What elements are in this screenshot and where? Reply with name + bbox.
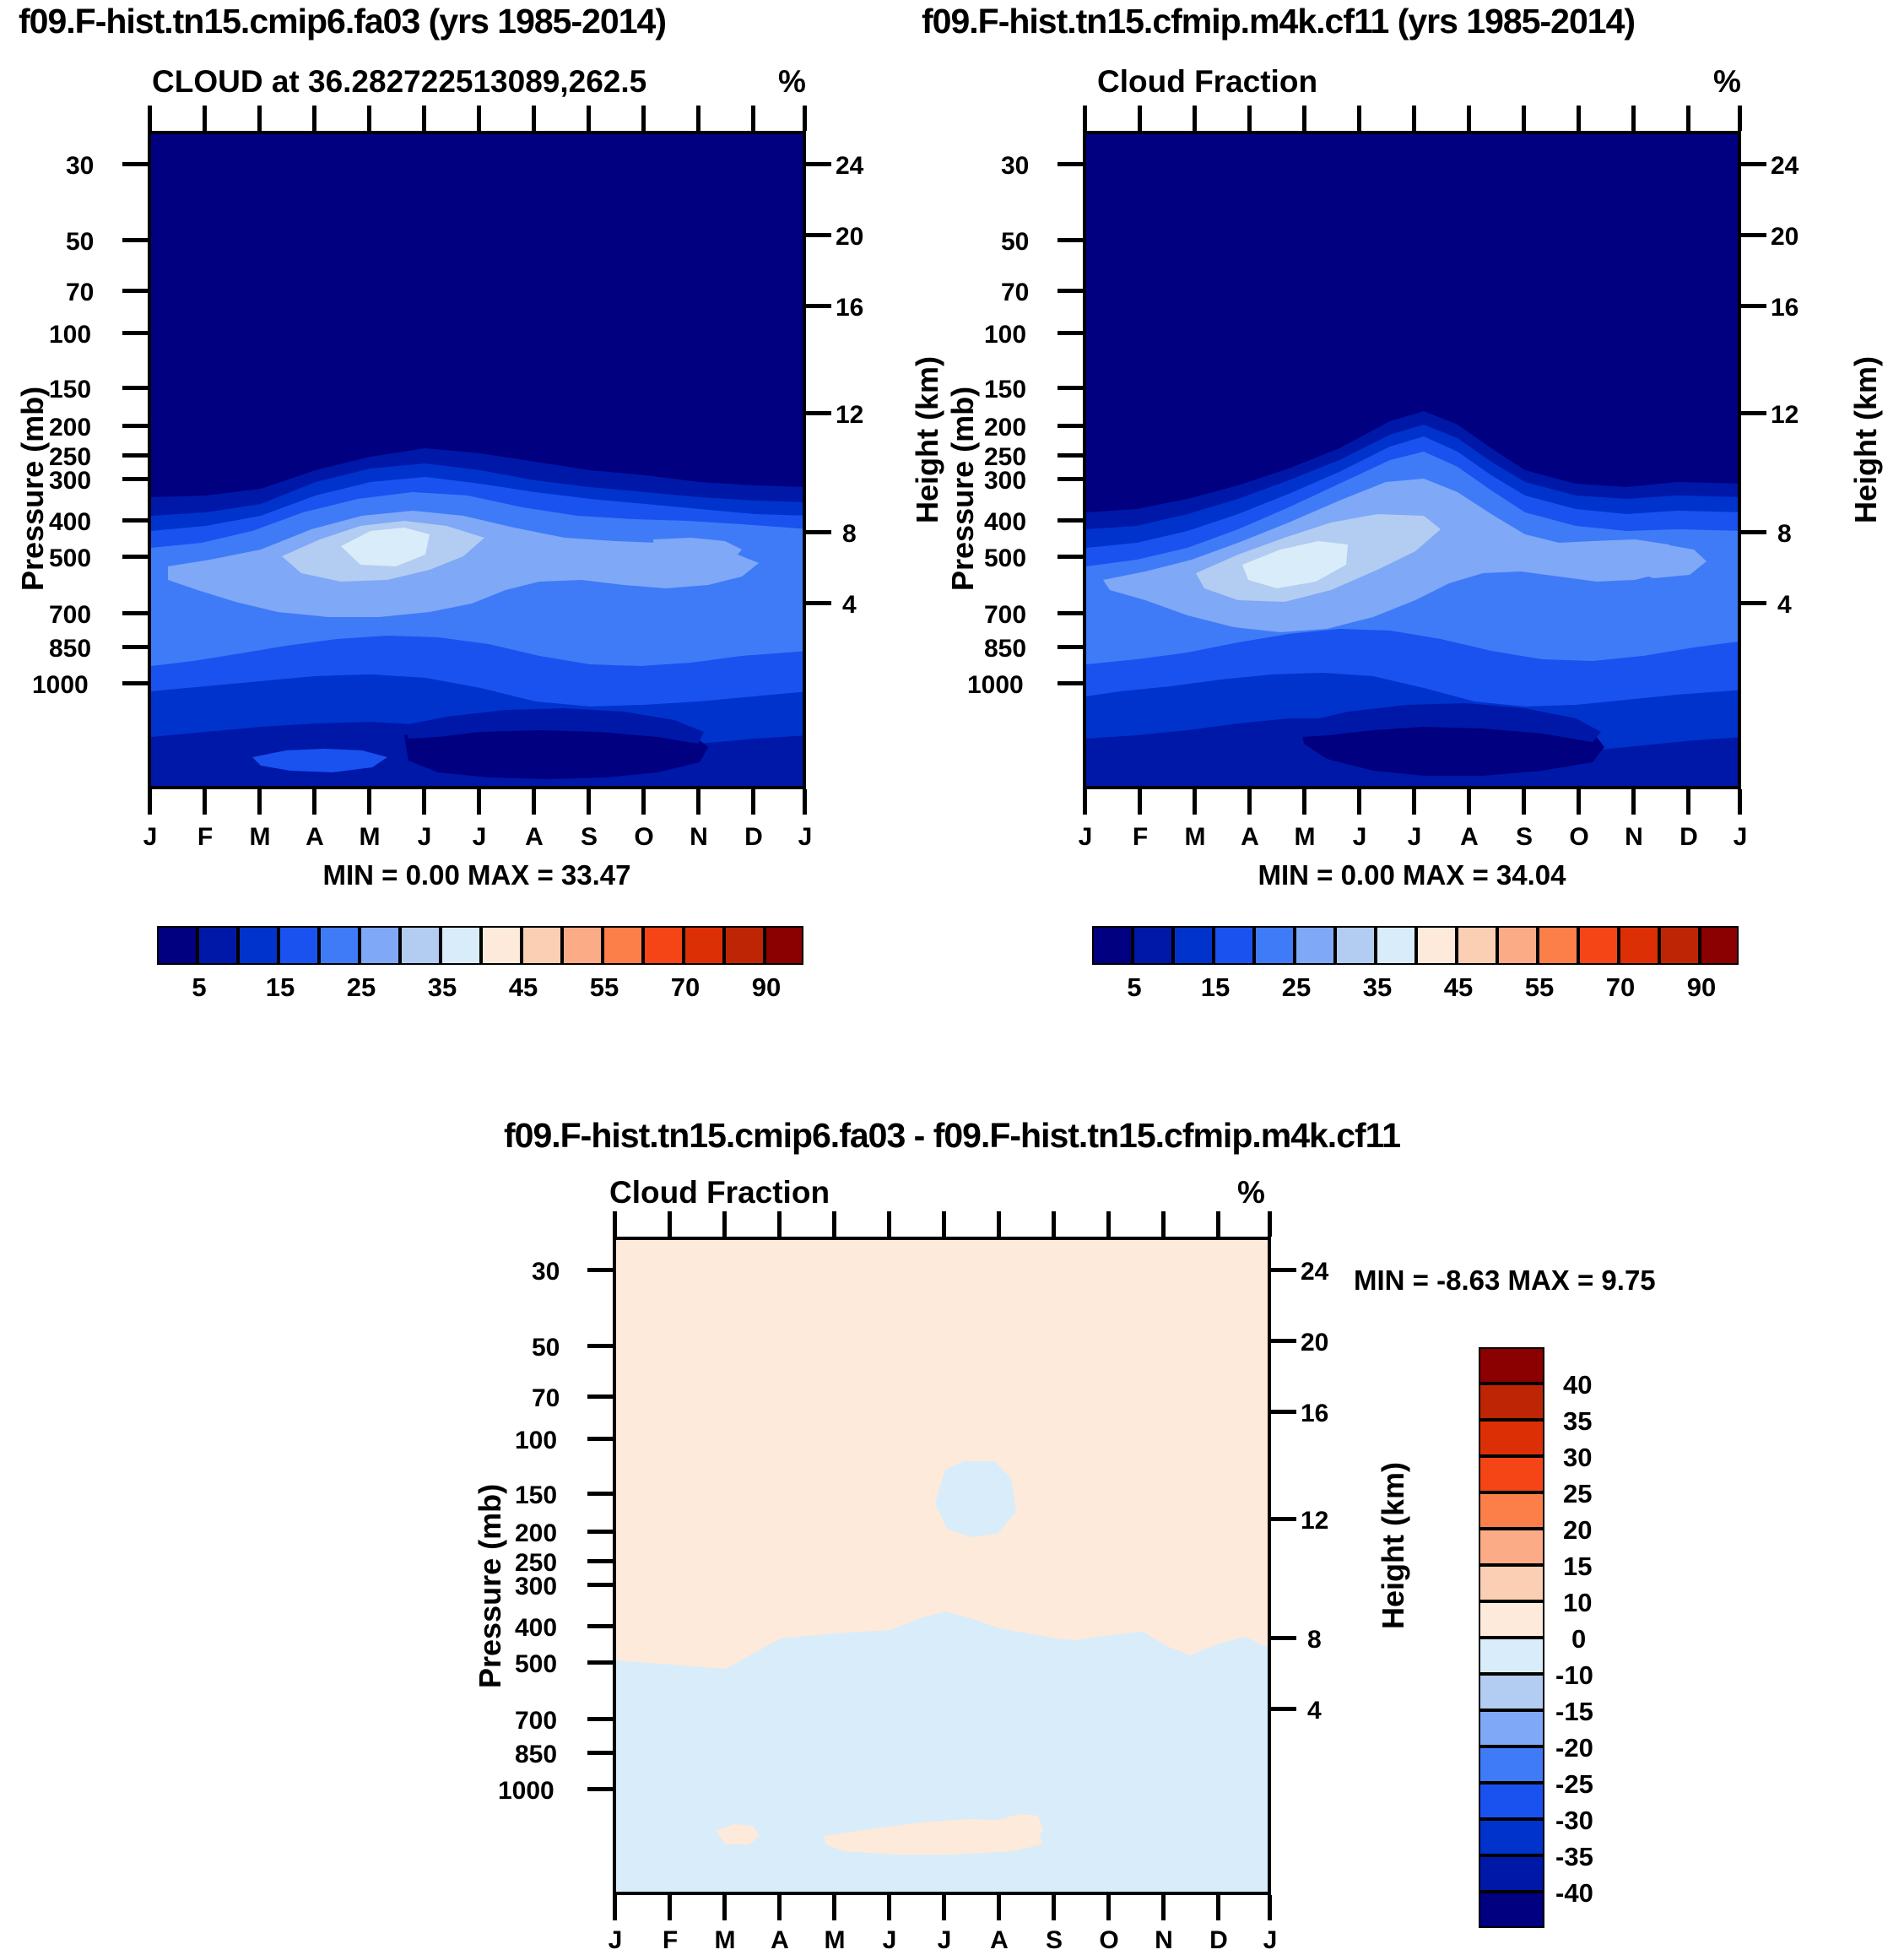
right-ytick-label: 500 bbox=[984, 544, 1026, 573]
colorbar-cell[interactable] bbox=[481, 926, 522, 965]
diff-colorbar[interactable] bbox=[1479, 1347, 1544, 1928]
right-ytick bbox=[1057, 289, 1083, 293]
colorbar-cell[interactable] bbox=[360, 926, 400, 965]
left-xtick-label: N bbox=[685, 823, 712, 852]
left-ylabel-text: Pressure (mb) bbox=[15, 387, 51, 591]
colorbar-cell[interactable] bbox=[1479, 1565, 1544, 1601]
colorbar-cell[interactable] bbox=[1659, 926, 1700, 965]
right-colorbar[interactable] bbox=[1092, 926, 1739, 965]
left-y2tick-label: 20 bbox=[836, 223, 863, 252]
colorbar-tick-label: 55 bbox=[587, 972, 621, 1003]
left-xtick-label: O bbox=[630, 823, 657, 852]
diff-top-tick bbox=[887, 1211, 891, 1237]
left-ytick bbox=[122, 238, 148, 242]
colorbar-cell[interactable] bbox=[1479, 1855, 1544, 1892]
left-ytick-label: 1000 bbox=[32, 671, 89, 700]
left-ytick bbox=[122, 289, 148, 293]
right-ytick bbox=[1057, 645, 1083, 649]
colorbar-tick-label: -15 bbox=[1555, 1697, 1593, 1727]
left-top-tick bbox=[203, 106, 207, 131]
right-top-tick bbox=[1193, 106, 1197, 131]
right-top-tick bbox=[1467, 106, 1471, 131]
diff-contour-field bbox=[616, 1240, 1271, 1895]
diff-top-tick bbox=[942, 1211, 946, 1237]
colorbar-cell[interactable] bbox=[238, 926, 279, 965]
colorbar-tick-label: 45 bbox=[1442, 972, 1475, 1003]
right-y2tick bbox=[1741, 601, 1766, 605]
right-ytick-label: 50 bbox=[1001, 228, 1029, 257]
left-bottom-tick bbox=[148, 789, 152, 815]
left-y2tick-label: 12 bbox=[836, 401, 863, 430]
right-y2label: Height (km) bbox=[1848, 523, 1904, 559]
diff-bottom-tick bbox=[668, 1895, 672, 1920]
colorbar-cell[interactable] bbox=[1092, 926, 1133, 965]
colorbar-cell[interactable] bbox=[765, 926, 803, 965]
left-top-tick bbox=[751, 106, 755, 131]
diff-xtick-label: F bbox=[657, 1926, 684, 1955]
right-y2label-text: Height (km) bbox=[1848, 356, 1884, 523]
right-xtick-label: J bbox=[1401, 823, 1428, 852]
colorbar-cell[interactable] bbox=[1173, 926, 1214, 965]
right-xtick-label: A bbox=[1236, 823, 1263, 852]
diff-ytick bbox=[587, 1624, 613, 1628]
diff-ytick-label: 200 bbox=[515, 1519, 557, 1548]
right-y2tick-label: 16 bbox=[1771, 294, 1799, 322]
right-top-tick bbox=[1577, 106, 1581, 131]
diff-y2tick bbox=[1271, 1339, 1296, 1343]
left-ytick-label: 300 bbox=[49, 467, 91, 496]
left-top-tick bbox=[422, 106, 426, 131]
right-y2tick bbox=[1741, 233, 1766, 237]
left-ytick bbox=[122, 555, 148, 559]
left-ytick bbox=[122, 386, 148, 390]
left-xtick-label: F bbox=[192, 823, 219, 852]
right-top-tick bbox=[1631, 106, 1636, 131]
right-panel-units: % bbox=[1713, 64, 1741, 100]
colorbar-cell[interactable] bbox=[1479, 1674, 1544, 1710]
diff-ytick bbox=[587, 1559, 613, 1563]
left-contour-field bbox=[151, 134, 806, 789]
left-bottom-tick bbox=[751, 789, 755, 815]
colorbar-cell[interactable] bbox=[1479, 1456, 1544, 1492]
diff-y2tick-label: 24 bbox=[1301, 1258, 1328, 1286]
colorbar-cell[interactable] bbox=[279, 926, 319, 965]
right-bottom-tick bbox=[1686, 789, 1690, 815]
colorbar-cell[interactable] bbox=[1479, 1420, 1544, 1456]
right-xtick-label: M bbox=[1291, 823, 1318, 852]
left-bottom-tick bbox=[803, 789, 807, 815]
colorbar-cell[interactable] bbox=[1479, 1783, 1544, 1819]
colorbar-tick-label: 35 bbox=[1563, 1406, 1592, 1437]
colorbar-cell[interactable] bbox=[603, 926, 643, 965]
diff-y2label-text: Height (km) bbox=[1376, 1462, 1411, 1629]
right-ytick-label: 150 bbox=[984, 376, 1026, 404]
colorbar-tick-label: 15 bbox=[1563, 1552, 1592, 1582]
colorbar-cell[interactable] bbox=[1254, 926, 1295, 965]
right-ytick bbox=[1057, 681, 1083, 685]
colorbar-cell[interactable] bbox=[1457, 926, 1497, 965]
colorbar-cell[interactable] bbox=[562, 926, 603, 965]
diff-top-tick bbox=[1216, 1211, 1220, 1237]
diff-y2tick bbox=[1271, 1636, 1296, 1640]
diff-xtick-label: A bbox=[986, 1926, 1013, 1955]
left-xtick-label: J bbox=[466, 823, 493, 852]
diff-xtick-label: A bbox=[766, 1926, 793, 1955]
diff-xtick-label: M bbox=[711, 1926, 738, 1955]
right-top-tick bbox=[1247, 106, 1252, 131]
colorbar-cell[interactable] bbox=[724, 926, 765, 965]
left-y2tick bbox=[806, 530, 831, 534]
left-plot-frame[interactable] bbox=[148, 131, 806, 789]
colorbar-tick-label: 90 bbox=[749, 972, 783, 1003]
right-y2tick-label: 24 bbox=[1771, 152, 1799, 181]
diff-y2tick-label: 16 bbox=[1301, 1400, 1328, 1428]
right-bottom-tick bbox=[1138, 789, 1142, 815]
right-contour-field bbox=[1086, 134, 1741, 789]
diff-y2tick-label: 20 bbox=[1301, 1329, 1328, 1357]
left-y2tick-label: 24 bbox=[836, 152, 863, 181]
right-bottom-tick bbox=[1302, 789, 1306, 815]
colorbar-cell[interactable] bbox=[1479, 1601, 1544, 1638]
left-y2tick bbox=[806, 162, 831, 166]
left-top-tick bbox=[803, 106, 807, 131]
diff-minmax: MIN = -8.63 MAX = 9.75 bbox=[1354, 1265, 1656, 1297]
colorbar-cell[interactable] bbox=[1479, 1384, 1544, 1420]
right-y2tick-label: 20 bbox=[1771, 223, 1799, 252]
colorbar-cell[interactable] bbox=[1497, 926, 1538, 965]
diff-ytick-label: 1000 bbox=[498, 1777, 554, 1806]
colorbar-tick-label: -10 bbox=[1555, 1660, 1593, 1691]
colorbar-cell[interactable] bbox=[1538, 926, 1578, 965]
left-xtick-label: A bbox=[301, 823, 328, 852]
diff-xtick-label: N bbox=[1150, 1926, 1177, 1955]
left-ytick bbox=[122, 477, 148, 481]
right-top-tick bbox=[1302, 106, 1306, 131]
right-ytick-label: 700 bbox=[984, 601, 1026, 630]
right-ytick bbox=[1057, 518, 1083, 523]
diff-ytick-label: 100 bbox=[515, 1427, 557, 1455]
left-top-tick bbox=[148, 106, 152, 131]
left-top-tick bbox=[312, 106, 316, 131]
left-bottom-tick bbox=[367, 789, 371, 815]
diff-panel-title: f09.F-hist.tn15.cmip6.fa03 - f09.F-hist.… bbox=[0, 1116, 1904, 1156]
right-ytick-label: 300 bbox=[984, 467, 1026, 496]
right-xtick-label: D bbox=[1675, 823, 1702, 852]
colorbar-cell[interactable] bbox=[1376, 926, 1416, 965]
left-top-tick bbox=[587, 106, 591, 131]
colorbar-cell[interactable] bbox=[197, 926, 238, 965]
diff-bottom-tick bbox=[1052, 1895, 1056, 1920]
left-xtick-label: J bbox=[137, 823, 164, 852]
left-y2tick bbox=[806, 601, 831, 605]
colorbar-cell[interactable] bbox=[1479, 1529, 1544, 1565]
colorbar-tick-label: 35 bbox=[1360, 972, 1394, 1003]
diff-xtick-label: D bbox=[1205, 1926, 1232, 1955]
right-xtick-label: J bbox=[1072, 823, 1099, 852]
diff-xtick-label: J bbox=[602, 1926, 629, 1955]
right-y2tick bbox=[1741, 304, 1766, 308]
colorbar-cell[interactable] bbox=[441, 926, 481, 965]
colorbar-tick-label: 5 bbox=[1117, 972, 1151, 1003]
left-top-tick bbox=[477, 106, 481, 131]
left-ytick bbox=[122, 611, 148, 615]
colorbar-cell[interactable] bbox=[1479, 1492, 1544, 1529]
right-ylabel-text: Pressure (mb) bbox=[945, 387, 981, 591]
diff-ytick bbox=[587, 1660, 613, 1665]
diff-xtick-label: O bbox=[1095, 1926, 1122, 1955]
diff-top-tick bbox=[832, 1211, 836, 1237]
colorbar-tick-label: 30 bbox=[1563, 1443, 1592, 1473]
colorbar-cell[interactable] bbox=[684, 926, 724, 965]
right-top-tick bbox=[1138, 106, 1142, 131]
colorbar-cell[interactable] bbox=[1479, 1747, 1544, 1783]
colorbar-tick-label: 15 bbox=[1198, 972, 1232, 1003]
diff-y2tick-label: 4 bbox=[1307, 1697, 1322, 1725]
right-top-tick bbox=[1357, 106, 1361, 131]
right-top-tick bbox=[1412, 106, 1416, 131]
diff-plot-frame[interactable] bbox=[613, 1237, 1271, 1895]
colorbar-tick-label: 90 bbox=[1685, 972, 1718, 1003]
right-ytick-label: 70 bbox=[1001, 279, 1029, 307]
colorbar-tick-label: 25 bbox=[1279, 972, 1313, 1003]
left-ytick bbox=[122, 162, 148, 166]
colorbar-tick-label: -35 bbox=[1555, 1842, 1593, 1872]
diff-xtick-label: J bbox=[876, 1926, 903, 1955]
diff-xtick-label: J bbox=[931, 1926, 958, 1955]
colorbar-cell[interactable] bbox=[1335, 926, 1376, 965]
left-y2tick bbox=[806, 233, 831, 237]
right-ytick bbox=[1057, 162, 1083, 166]
diff-panel-subtitle: Cloud Fraction bbox=[609, 1175, 830, 1210]
colorbar-tick-label: 25 bbox=[344, 972, 378, 1003]
colorbar-tick-label: 20 bbox=[1563, 1515, 1592, 1546]
right-ytick-label: 1000 bbox=[967, 671, 1024, 700]
left-ytick bbox=[122, 424, 148, 428]
colorbar-tick-label: 25 bbox=[1563, 1479, 1592, 1509]
right-bottom-tick bbox=[1467, 789, 1471, 815]
diff-ytick bbox=[587, 1751, 613, 1755]
diff-bottom-tick bbox=[1161, 1895, 1166, 1920]
diff-y2tick bbox=[1271, 1707, 1296, 1711]
right-panel-title: f09.F-hist.tn15.cfmip.m4k.cf11 (yrs 1985… bbox=[922, 2, 1635, 41]
left-ytick bbox=[122, 453, 148, 458]
diff-y2tick bbox=[1271, 1517, 1296, 1521]
diff-top-tick bbox=[722, 1211, 727, 1237]
right-xtick-label: S bbox=[1511, 823, 1538, 852]
left-panel-title: f09.F-hist.tn15.cmip6.fa03 (yrs 1985-201… bbox=[19, 2, 666, 41]
left-xtick-label: S bbox=[576, 823, 603, 852]
diff-ytick bbox=[587, 1268, 613, 1272]
right-ytick bbox=[1057, 238, 1083, 242]
right-panel-subtitle: Cloud Fraction bbox=[1097, 64, 1317, 100]
right-bottom-tick bbox=[1738, 789, 1742, 815]
right-bottom-tick bbox=[1247, 789, 1252, 815]
colorbar-tick-label: 55 bbox=[1523, 972, 1556, 1003]
left-ytick-label: 850 bbox=[49, 635, 91, 663]
diff-bottom-tick bbox=[777, 1895, 782, 1920]
diff-ytick-label: 700 bbox=[515, 1707, 557, 1736]
right-ytick-label: 200 bbox=[984, 414, 1026, 442]
colorbar-cell[interactable] bbox=[1416, 926, 1457, 965]
left-bottom-tick bbox=[477, 789, 481, 815]
right-ytick bbox=[1057, 386, 1083, 390]
colorbar-cell[interactable] bbox=[643, 926, 684, 965]
right-ytick bbox=[1057, 477, 1083, 481]
colorbar-cell[interactable] bbox=[1133, 926, 1173, 965]
left-y2tick bbox=[806, 304, 831, 308]
diff-ytick bbox=[587, 1492, 613, 1496]
left-y2tick-label: 8 bbox=[842, 520, 857, 549]
diff-bottom-tick bbox=[1106, 1895, 1111, 1920]
colorbar-tick-label: -20 bbox=[1555, 1733, 1593, 1763]
diff-ytick-label: 850 bbox=[515, 1741, 557, 1769]
colorbar-tick-label: 10 bbox=[1563, 1588, 1592, 1618]
diff-ytick bbox=[587, 1787, 613, 1791]
diff-bottom-tick bbox=[613, 1895, 617, 1920]
left-y2label-text: Height (km) bbox=[910, 356, 945, 523]
right-y2tick-label: 8 bbox=[1777, 520, 1792, 549]
left-ytick-label: 100 bbox=[49, 321, 91, 349]
right-y2tick-label: 4 bbox=[1777, 591, 1792, 620]
left-xtick-label: M bbox=[246, 823, 273, 852]
left-xtick-label: J bbox=[792, 823, 819, 852]
right-bottom-tick bbox=[1577, 789, 1581, 815]
colorbar-tick-label: -25 bbox=[1555, 1769, 1593, 1800]
diff-ytick-label: 70 bbox=[532, 1384, 560, 1413]
colorbar-cell[interactable] bbox=[1214, 926, 1254, 965]
left-ytick-label: 400 bbox=[49, 508, 91, 537]
right-xtick-label: J bbox=[1346, 823, 1373, 852]
right-y2tick-label: 12 bbox=[1771, 401, 1799, 430]
diff-y2tick bbox=[1271, 1268, 1296, 1272]
diff-bottom-tick bbox=[722, 1895, 727, 1920]
colorbar-cell[interactable] bbox=[522, 926, 562, 965]
right-top-tick bbox=[1686, 106, 1690, 131]
diff-bottom-tick bbox=[1216, 1895, 1220, 1920]
colorbar-cell[interactable] bbox=[1619, 926, 1659, 965]
right-ytick bbox=[1057, 555, 1083, 559]
left-ytick-label: 500 bbox=[49, 544, 91, 573]
left-top-tick bbox=[532, 106, 536, 131]
diff-xtick-label: M bbox=[821, 1926, 848, 1955]
colorbar-cell[interactable] bbox=[1295, 926, 1335, 965]
right-ytick bbox=[1057, 424, 1083, 428]
left-xtick-label: J bbox=[411, 823, 438, 852]
right-ytick-label: 100 bbox=[984, 321, 1026, 349]
left-ytick-label: 50 bbox=[66, 228, 94, 257]
colorbar-cell[interactable] bbox=[1479, 1638, 1544, 1674]
right-xtick-label: M bbox=[1182, 823, 1209, 852]
left-xtick-label: M bbox=[356, 823, 383, 852]
right-ytick-label: 850 bbox=[984, 635, 1026, 663]
colorbar-tick-label: 35 bbox=[425, 972, 459, 1003]
colorbar-cell[interactable] bbox=[319, 926, 360, 965]
diff-y2tick-label: 12 bbox=[1301, 1507, 1328, 1535]
diff-ytick-label: 150 bbox=[515, 1481, 557, 1510]
left-panel-subtitle: CLOUD at 36.282722513089,262.5 bbox=[152, 64, 646, 100]
colorbar-cell[interactable] bbox=[1479, 1347, 1544, 1384]
colorbar-tick-label: 5 bbox=[182, 972, 216, 1003]
colorbar-cell[interactable] bbox=[400, 926, 441, 965]
left-top-tick bbox=[367, 106, 371, 131]
left-xtick-label: A bbox=[521, 823, 548, 852]
left-panel-units: % bbox=[778, 64, 806, 100]
left-ytick-label: 150 bbox=[49, 376, 91, 404]
left-ytick bbox=[122, 645, 148, 649]
left-bottom-tick bbox=[587, 789, 591, 815]
right-plot-frame[interactable] bbox=[1083, 131, 1741, 789]
colorbar-cell[interactable] bbox=[1479, 1892, 1544, 1928]
diff-ytick-label: 500 bbox=[515, 1650, 557, 1679]
left-ytick-label: 70 bbox=[66, 279, 94, 307]
left-bottom-tick bbox=[257, 789, 262, 815]
colorbar-cell[interactable] bbox=[1700, 926, 1739, 965]
right-ytick-label: 30 bbox=[1001, 152, 1029, 181]
left-bottom-tick bbox=[312, 789, 316, 815]
left-top-tick bbox=[696, 106, 700, 131]
left-bottom-tick bbox=[203, 789, 207, 815]
left-y2tick-label: 16 bbox=[836, 294, 863, 322]
left-bottom-tick bbox=[641, 789, 646, 815]
diff-ytick-label: 300 bbox=[515, 1573, 557, 1601]
colorbar-cell[interactable] bbox=[1578, 926, 1619, 965]
right-bottom-tick bbox=[1522, 789, 1526, 815]
colorbar-cell[interactable] bbox=[1479, 1710, 1544, 1747]
diff-ylabel-text: Pressure (mb) bbox=[473, 1484, 508, 1688]
diff-ytick bbox=[587, 1437, 613, 1441]
right-bottom-tick bbox=[1083, 789, 1087, 815]
right-top-tick bbox=[1738, 106, 1742, 131]
left-bottom-tick bbox=[696, 789, 700, 815]
diff-ytick bbox=[587, 1717, 613, 1721]
right-y2tick bbox=[1741, 530, 1766, 534]
diff-xtick-label: S bbox=[1041, 1926, 1068, 1955]
diff-top-tick bbox=[613, 1211, 617, 1237]
colorbar-tick-label: 40 bbox=[1563, 1370, 1592, 1400]
left-ytick-label: 200 bbox=[49, 414, 91, 442]
right-bottom-tick bbox=[1193, 789, 1197, 815]
left-colorbar[interactable] bbox=[157, 926, 803, 965]
colorbar-cell[interactable] bbox=[1479, 1819, 1544, 1855]
left-y2tick-label: 4 bbox=[842, 591, 857, 620]
right-xtick-label: J bbox=[1727, 823, 1754, 852]
colorbar-tick-label: 15 bbox=[263, 972, 297, 1003]
right-top-tick bbox=[1522, 106, 1526, 131]
left-bottom-tick bbox=[422, 789, 426, 815]
diff-top-tick bbox=[1106, 1211, 1111, 1237]
right-xtick-label: N bbox=[1620, 823, 1647, 852]
right-y2tick bbox=[1741, 411, 1766, 415]
left-y2tick bbox=[806, 411, 831, 415]
left-ytick bbox=[122, 518, 148, 523]
diff-bottom-tick bbox=[832, 1895, 836, 1920]
diff-bottom-tick bbox=[997, 1895, 1001, 1920]
left-top-tick bbox=[641, 106, 646, 131]
right-minmax: MIN = 0.00 MAX = 34.04 bbox=[1083, 859, 1741, 891]
right-ytick-label: 400 bbox=[984, 508, 1026, 537]
left-ytick-label: 700 bbox=[49, 601, 91, 630]
right-bottom-tick bbox=[1412, 789, 1416, 815]
diff-y2tick bbox=[1271, 1410, 1296, 1414]
left-xtick-label: D bbox=[740, 823, 767, 852]
diff-top-tick bbox=[1268, 1211, 1272, 1237]
right-xtick-label: A bbox=[1456, 823, 1483, 852]
diff-top-tick bbox=[997, 1211, 1001, 1237]
colorbar-tick-label: 70 bbox=[668, 972, 702, 1003]
colorbar-cell[interactable] bbox=[157, 926, 197, 965]
left-ytick-label: 30 bbox=[66, 152, 94, 181]
right-ytick bbox=[1057, 331, 1083, 335]
